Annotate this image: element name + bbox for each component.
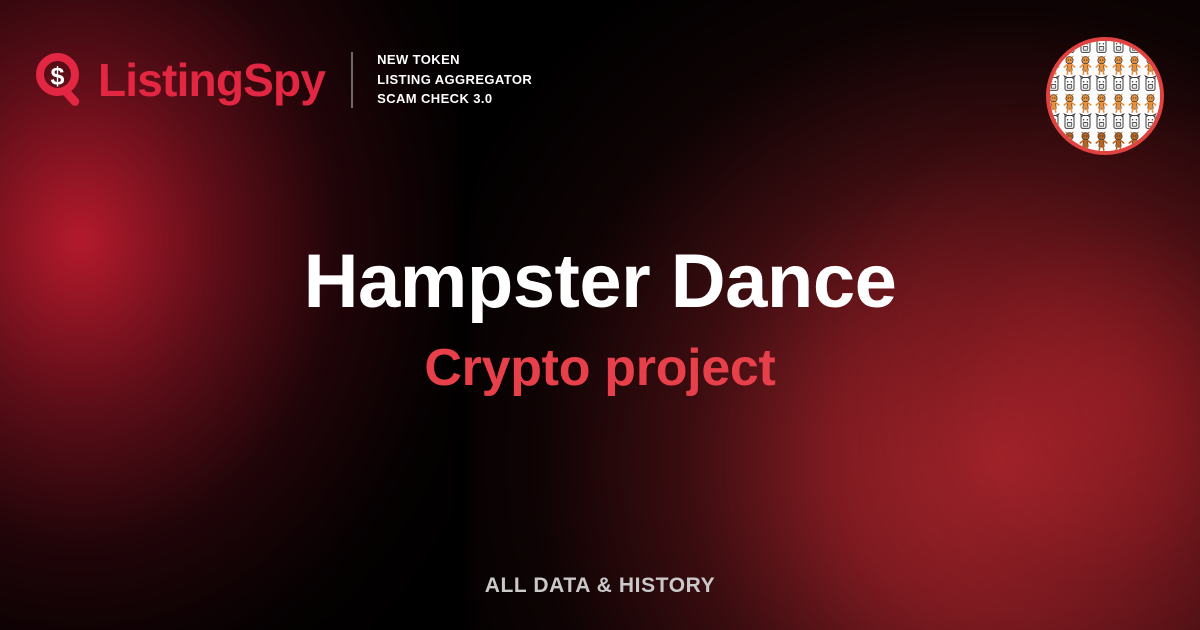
hamster-sprite (1111, 37, 1126, 55)
title-block: Hampster Dance Crypto project (0, 244, 1200, 394)
hamster-sprite (1046, 37, 1061, 55)
page-title: Hampster Dance (0, 244, 1200, 320)
hamster-sprite (1062, 113, 1077, 131)
header: $ ListingSpy NEW TOKEN LISTING AGGREGATO… (36, 52, 532, 108)
footer-text: ALL DATA & HISTORY (485, 574, 716, 597)
hamster-sprite (1143, 93, 1158, 113)
hamster-sprite (1094, 55, 1109, 75)
magnifier-dollar-icon: $ (36, 53, 88, 107)
tagline-line-1: NEW TOKEN (377, 52, 532, 69)
hamster-sprite (1143, 151, 1158, 155)
svg-text:$: $ (51, 63, 65, 91)
hamster-sprite (1078, 37, 1093, 55)
brand-wordmark: ListingSpy (98, 57, 325, 103)
hamster-sprite (1078, 113, 1093, 131)
hamster-sprite (1062, 55, 1077, 75)
hamster-sprite (1094, 131, 1109, 151)
hamster-sprite (1159, 93, 1164, 113)
hamster-sprite (1046, 93, 1061, 113)
hamster-sprite (1143, 75, 1158, 93)
hamster-sprite (1094, 113, 1109, 131)
hamster-sprite (1078, 75, 1093, 93)
hamster-sprite (1143, 131, 1158, 151)
tagline-line-2: LISTING AGGREGATOR (377, 72, 532, 89)
brand-logo[interactable]: $ ListingSpy (36, 53, 325, 107)
hamster-sprite (1062, 151, 1077, 155)
hamster-sprite-grid (1046, 37, 1164, 155)
hamster-sprite (1111, 75, 1126, 93)
hamster-sprite (1094, 37, 1109, 55)
hamster-sprite (1111, 151, 1126, 155)
hamster-sprite (1094, 151, 1109, 155)
hamster-sprite (1127, 113, 1142, 131)
hamster-sprite (1143, 113, 1158, 131)
hamster-row (1046, 75, 1164, 93)
hamster-sprite (1159, 75, 1164, 93)
hamster-sprite (1159, 113, 1164, 131)
tagline-line-3: SCAM CHECK 3.0 (377, 91, 532, 108)
hamster-row (1046, 55, 1164, 75)
hamster-sprite (1127, 75, 1142, 93)
hamster-sprite (1062, 75, 1077, 93)
footer: ALL DATA & HISTORY (0, 575, 1200, 597)
hamster-sprite (1159, 151, 1164, 155)
header-divider (351, 52, 353, 108)
hamster-sprite (1046, 55, 1061, 75)
hamster-sprite (1143, 55, 1158, 75)
hamster-sprite (1159, 55, 1164, 75)
hamster-row (1046, 151, 1164, 155)
hamster-sprite (1111, 55, 1126, 75)
hamster-row (1046, 113, 1164, 131)
hamster-row (1046, 37, 1164, 55)
hamster-sprite (1127, 151, 1142, 155)
hamster-row (1046, 131, 1164, 151)
hamster-sprite (1078, 151, 1093, 155)
hamster-sprite (1046, 113, 1061, 131)
hamster-sprite (1143, 37, 1158, 55)
hamster-sprite (1062, 93, 1077, 113)
hamster-sprite (1046, 75, 1061, 93)
hamster-sprite (1127, 131, 1142, 151)
hamster-sprite (1111, 113, 1126, 131)
hamster-sprite (1078, 93, 1093, 113)
hamster-sprite (1127, 93, 1142, 113)
hamster-sprite (1078, 131, 1093, 151)
hamster-sprite (1078, 55, 1093, 75)
avatar-image (1050, 41, 1160, 151)
hamster-sprite (1111, 93, 1126, 113)
hamster-sprite (1062, 131, 1077, 151)
brand-tagline: NEW TOKEN LISTING AGGREGATOR SCAM CHECK … (377, 52, 532, 108)
project-avatar[interactable] (1046, 37, 1164, 155)
hamster-sprite (1046, 151, 1061, 155)
hamster-sprite (1094, 75, 1109, 93)
og-card: $ ListingSpy NEW TOKEN LISTING AGGREGATO… (0, 0, 1200, 630)
hamster-sprite (1062, 37, 1077, 55)
page-subtitle: Crypto project (0, 342, 1200, 394)
hamster-row (1046, 93, 1164, 113)
hamster-sprite (1159, 131, 1164, 151)
hamster-sprite (1046, 131, 1061, 151)
hamster-sprite (1127, 37, 1142, 55)
hamster-sprite (1127, 55, 1142, 75)
hamster-sprite (1094, 93, 1109, 113)
hamster-sprite (1111, 131, 1126, 151)
hamster-sprite (1159, 37, 1164, 55)
